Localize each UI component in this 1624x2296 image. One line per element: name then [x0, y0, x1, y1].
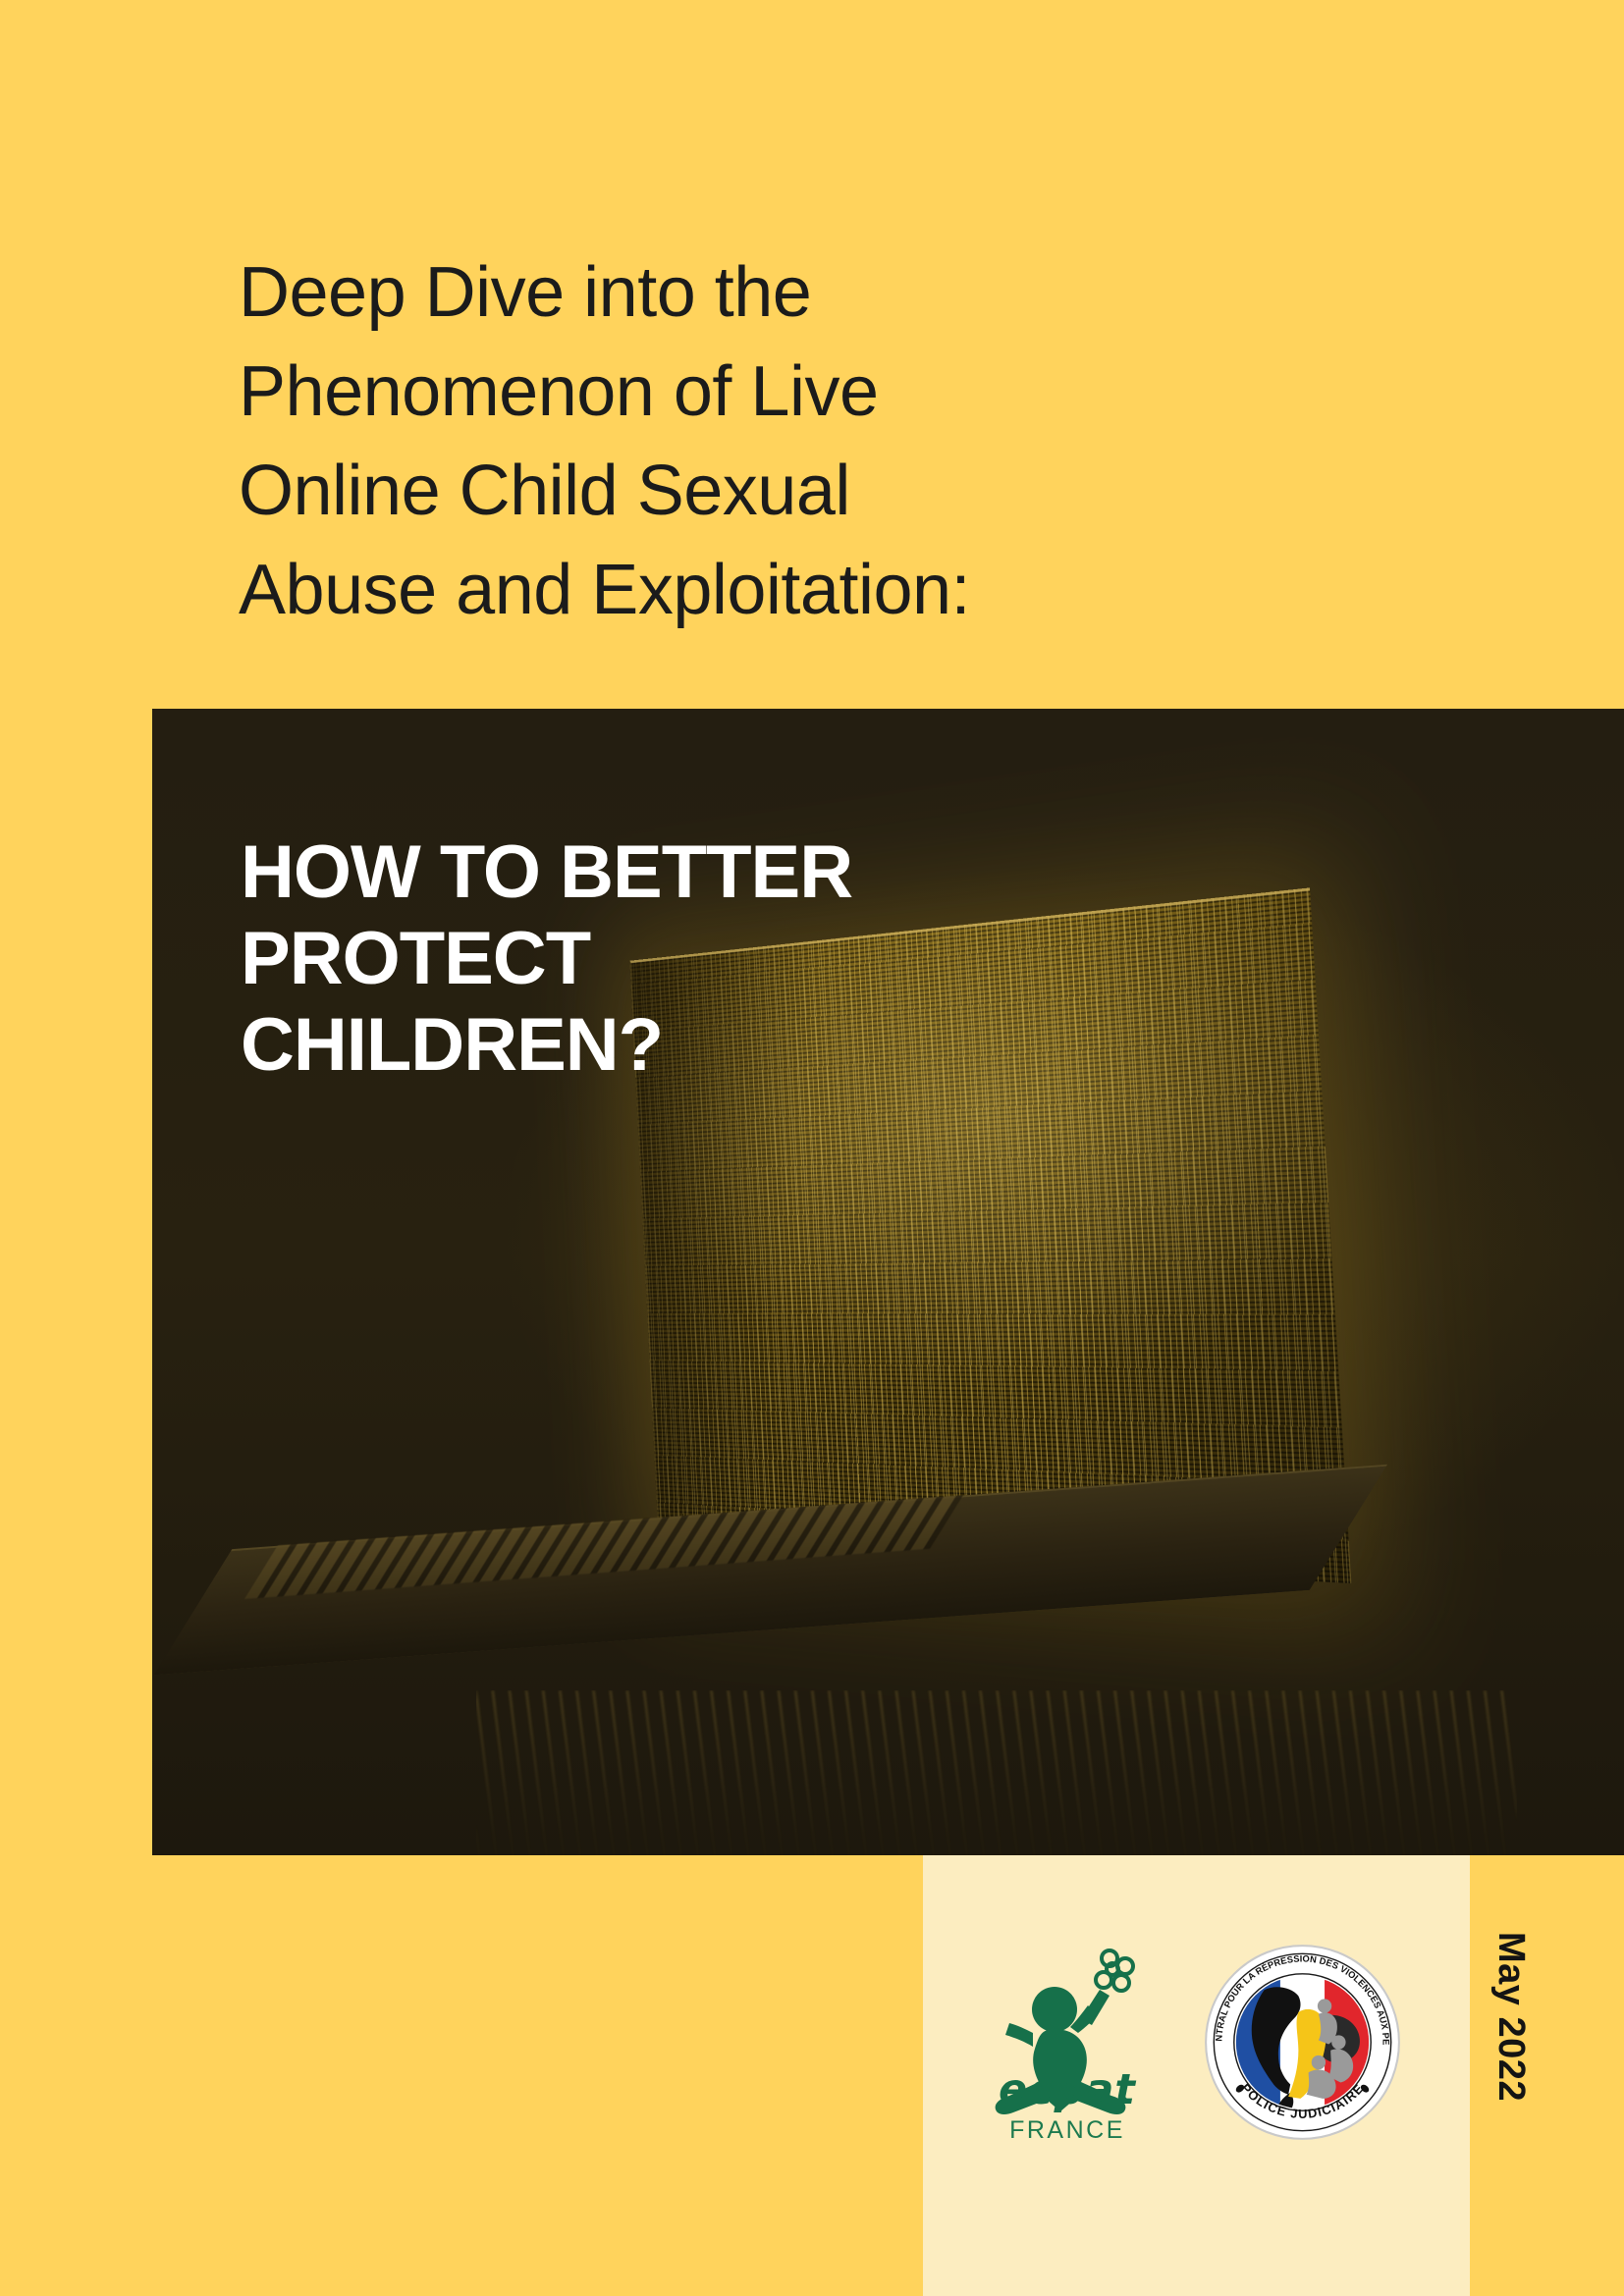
cover-page: Deep Dive into the Phenomenon of Live On… [0, 0, 1624, 2296]
headline-line-3: CHILDREN? [241, 1002, 1046, 1089]
headline-line-1: HOW TO BETTER [241, 829, 1046, 916]
title-line-3: Online Child Sexual [239, 442, 1220, 541]
title-line-2: Phenomenon of Live [239, 343, 1220, 442]
title-line-4: Abuse and Exploitation: [239, 541, 1220, 640]
ecpat-france-logo: ecpat FRANCE [984, 1939, 1151, 2145]
desk-reflection [476, 1690, 1517, 1855]
police-judiciaire-badge-icon: OFFICE CENTRAL POUR LA RÉPRESSION DES VI… [1202, 1942, 1403, 2143]
ecpat-country-label: FRANCE [984, 2118, 1151, 2143]
cover-headline: HOW TO BETTER PROTECT CHILDREN? [241, 829, 1046, 1089]
title-line-1: Deep Dive into the [239, 243, 1220, 343]
page-title: Deep Dive into the Phenomenon of Live On… [239, 243, 1220, 640]
publication-date: May 2022 [1469, 1932, 1532, 2187]
headline-line-2: PROTECT [241, 916, 1046, 1002]
police-judiciaire-badge: OFFICE CENTRAL POUR LA RÉPRESSION DES VI… [1202, 1942, 1403, 2143]
ecpat-wordmark: ecpat [984, 2069, 1151, 2111]
footer-logo-row: ecpat FRANCE [943, 1919, 1453, 2164]
